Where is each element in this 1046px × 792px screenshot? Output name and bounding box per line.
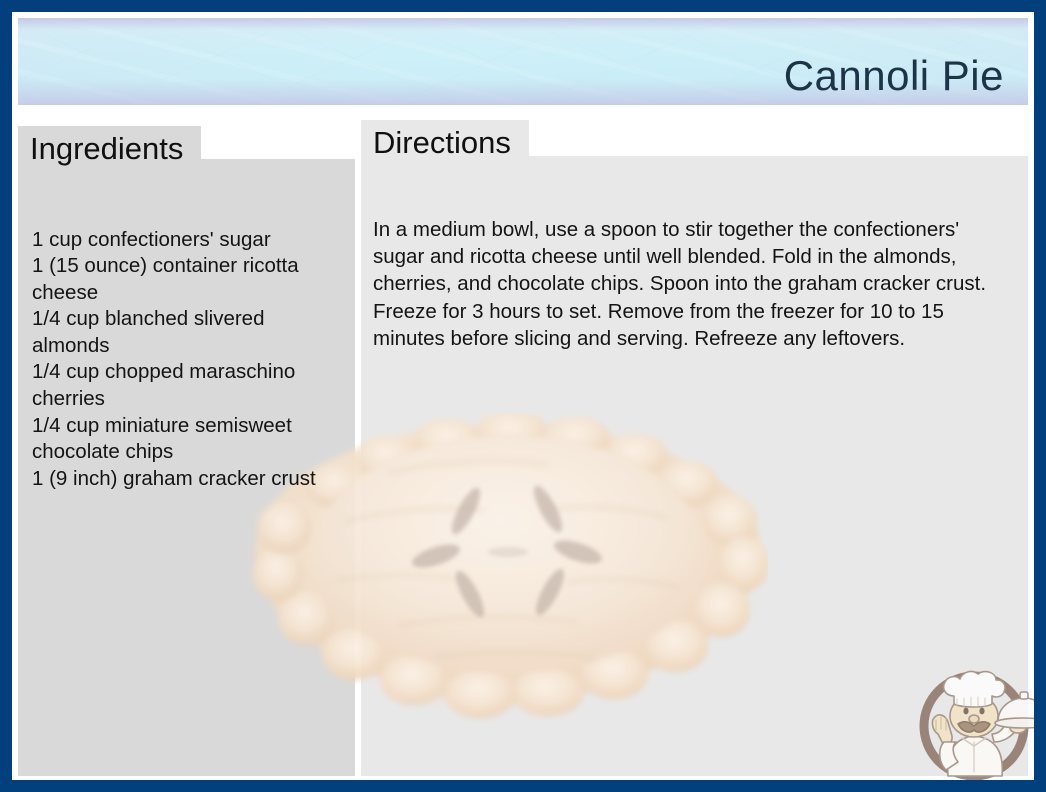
recipe-card: Cannoli Pie Ingredients 1 cup confection… bbox=[0, 0, 1046, 792]
ingredients-panel: Ingredients 1 cup confectioners' sugar 1… bbox=[18, 126, 355, 776]
chef-logo bbox=[908, 650, 1034, 780]
directions-text: In a medium bowl, use a spoon to stir to… bbox=[361, 166, 1028, 352]
header-banner: Cannoli Pie bbox=[18, 18, 1028, 105]
chef-hat bbox=[944, 672, 1005, 707]
chef-hand-left bbox=[932, 715, 952, 745]
chef-eye-right bbox=[979, 708, 984, 715]
cloche-handle bbox=[1020, 692, 1028, 699]
ingredients-heading: Ingredients bbox=[18, 126, 201, 172]
chef-eye-left bbox=[963, 708, 968, 715]
card-inner-frame: Cannoli Pie Ingredients 1 cup confection… bbox=[12, 12, 1034, 780]
cloche-tray bbox=[995, 718, 1034, 728]
directions-heading: Directions bbox=[361, 120, 529, 166]
page-title: Cannoli Pie bbox=[784, 53, 1004, 99]
ingredients-list: 1 cup confectioners' sugar 1 (15 ounce) … bbox=[18, 172, 355, 492]
chef-nose bbox=[969, 715, 979, 723]
